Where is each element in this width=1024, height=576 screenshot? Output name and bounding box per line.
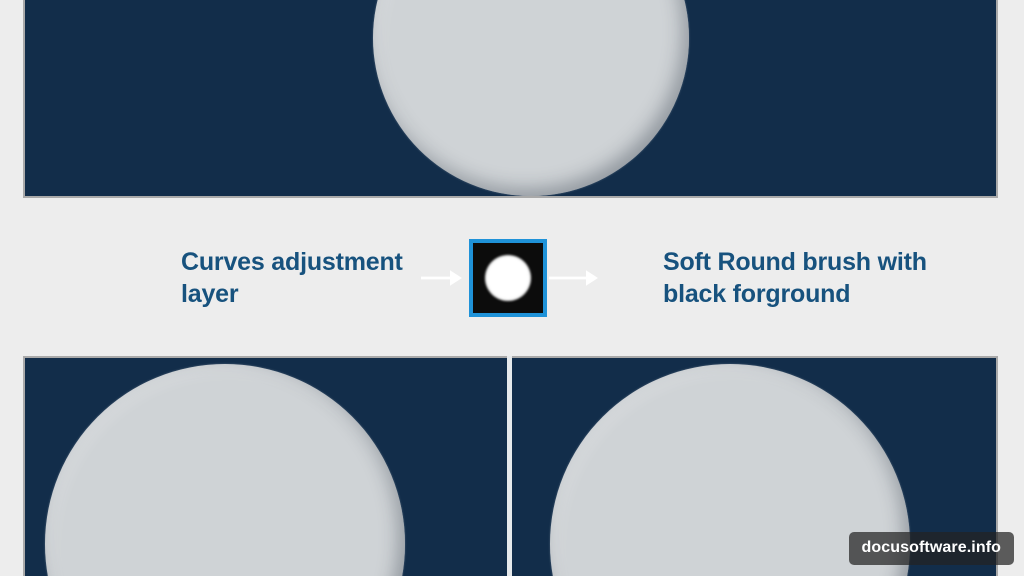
arrow-right-icon-1 <box>415 267 469 289</box>
arrow-right-icon-2 <box>547 267 601 289</box>
screenshot-canvas: Curves adjustment layer Soft Round brush… <box>0 0 1024 576</box>
watermark-badge: docusoftware.info <box>849 532 1014 565</box>
original-moon-photo-panel <box>23 0 998 198</box>
caption-band: Curves adjustment layer Soft Round brush… <box>0 200 1024 356</box>
before-after-divider <box>507 356 512 576</box>
soft-round-brush-label: Soft Round brush with black forground <box>601 246 931 310</box>
workflow-row: Curves adjustment layer Soft Round brush… <box>0 200 1024 356</box>
layer-mask-thumbnail[interactable] <box>469 239 547 317</box>
curves-adjustment-label: Curves adjustment layer <box>93 246 415 310</box>
mask-soft-white-circle <box>485 255 531 301</box>
